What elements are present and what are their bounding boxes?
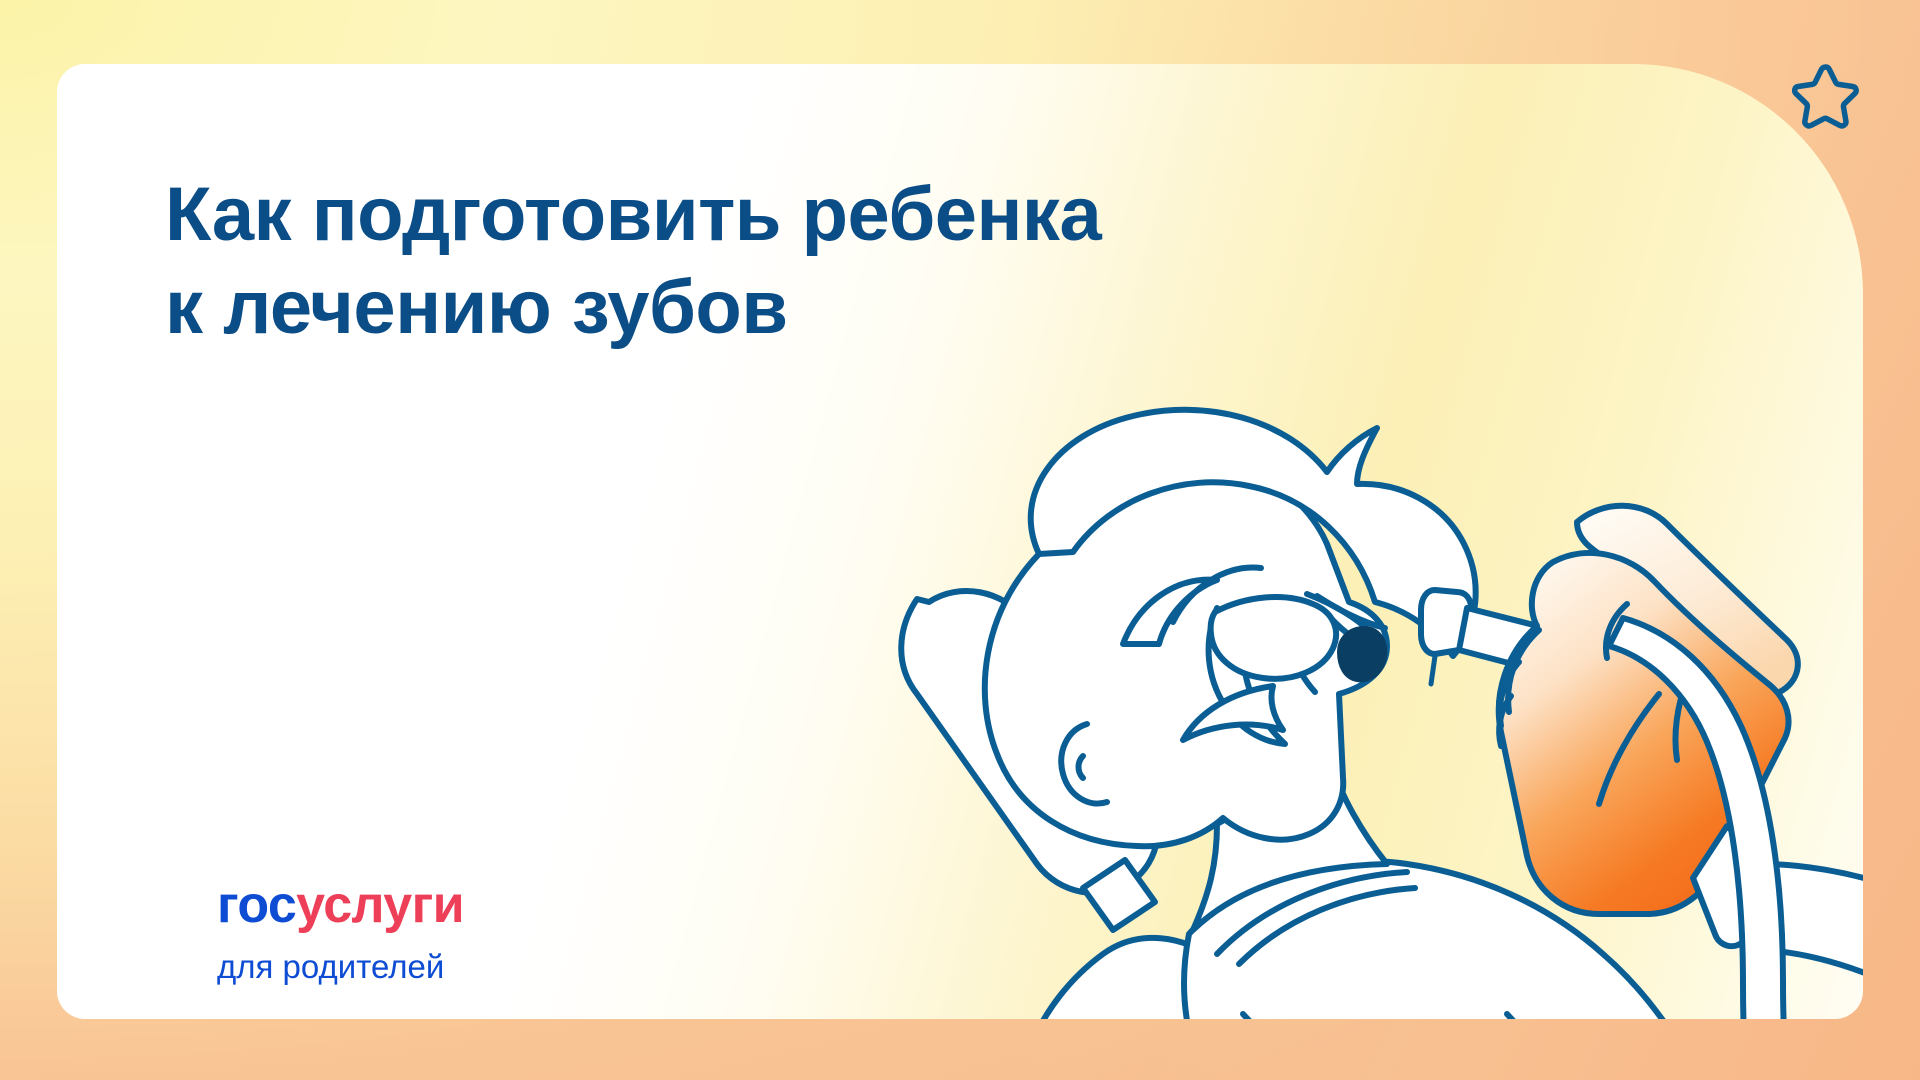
child-in-dental-chair-illustration — [887, 394, 1863, 1019]
child-hair — [1031, 410, 1476, 744]
logo-wordmark-blue-part: гос — [217, 876, 296, 934]
child-open-mouth — [1211, 597, 1336, 679]
child-eyebrow — [1307, 594, 1375, 636]
content-card: Как подготовить ребенка к лечению зубов — [57, 64, 1863, 1019]
poster-canvas: Как подготовить ребенка к лечению зубов — [0, 0, 1920, 1080]
logo-wordmark-red-part: услуги — [296, 876, 464, 934]
gosuslugi-logo: госуслуги для родителей — [217, 879, 464, 983]
dentist-sleeve — [1693, 826, 1863, 1019]
child-ear — [1061, 724, 1107, 804]
star-icon — [1792, 62, 1860, 130]
child-torso — [1184, 861, 1727, 1019]
dental-chair-backrest — [1013, 938, 1317, 1019]
logo-wordmark: госуслуги — [217, 879, 464, 931]
logo-subtitle: для родителей — [217, 950, 464, 983]
child-head-profile — [985, 456, 1387, 847]
child-eye — [1339, 628, 1385, 680]
dental-drill-handpiece — [1421, 590, 1616, 684]
dentist-hand — [1499, 506, 1798, 914]
child-neck — [1193, 760, 1387, 930]
page-title: Как подготовить ребенка к лечению зубов — [165, 169, 1101, 354]
drill-hose — [1609, 618, 1803, 1019]
dental-chair-headrest — [901, 591, 1158, 930]
